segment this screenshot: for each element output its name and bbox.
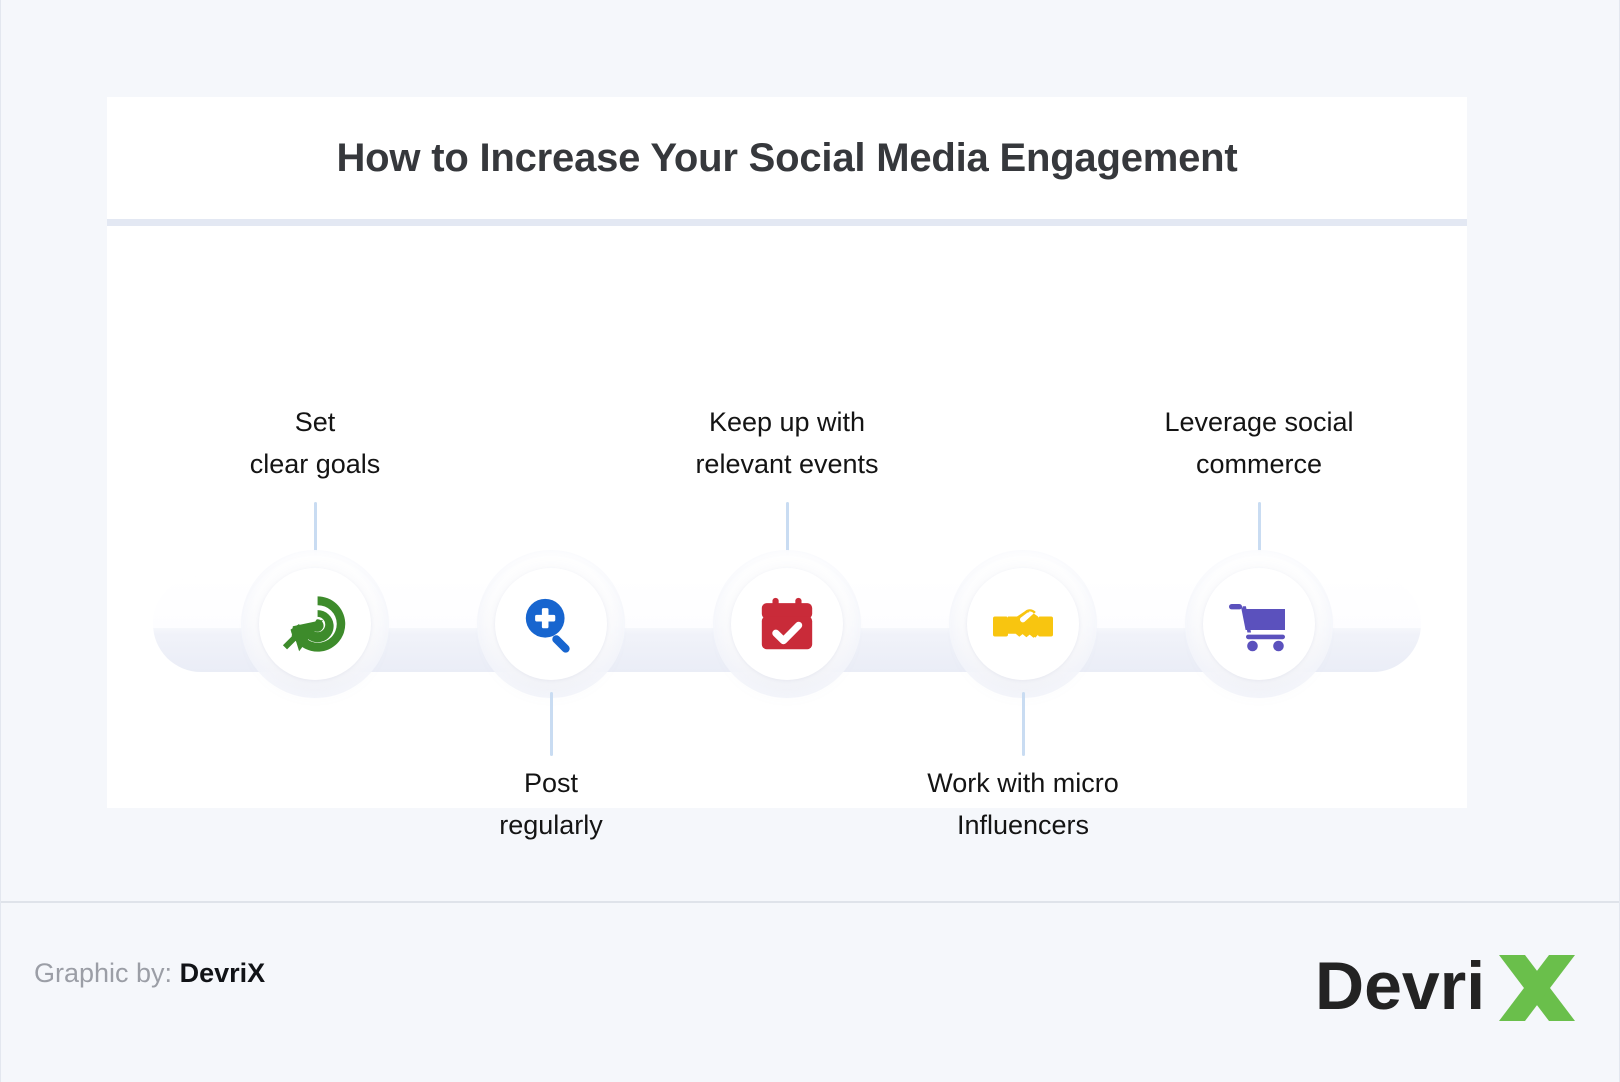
steps-diagram: Set clear goals [107,226,1467,808]
devrix-logo[interactable]: Devri [1313,929,1583,1039]
node-disc[interactable] [967,568,1079,680]
step-label-leverage-social-commerce: Leverage social commerce [1109,401,1409,485]
node-disc[interactable] [1203,568,1315,680]
magnifier-plus-icon [520,593,582,655]
credit-line: Graphic by: DevriX [34,958,265,989]
node-disc[interactable] [259,568,371,680]
node-disc[interactable] [731,568,843,680]
logo-x-mark [1499,955,1575,1021]
handshake-icon [991,592,1055,656]
calendar-check-icon [756,593,818,655]
connector-line [1022,692,1025,756]
infographic-page: How to Increase Your Social Media Engage… [0,0,1620,1082]
shopping-cart-icon [1227,592,1291,656]
logo-wordmark: Devri [1315,948,1485,1024]
connector-line [550,692,553,756]
credit-prefix: Graphic by: [34,958,172,988]
step-leverage-social-commerce[interactable]: Leverage social commerce [1109,226,1409,808]
footer: Graphic by: DevriX Devri [1,903,1619,1082]
title-divider [107,219,1467,226]
node-disc[interactable] [495,568,607,680]
credit-brand: DevriX [180,958,266,988]
infographic-card: How to Increase Your Social Media Engage… [107,97,1467,808]
target-cursor-icon [282,591,348,657]
page-title: How to Increase Your Social Media Engage… [107,97,1467,219]
